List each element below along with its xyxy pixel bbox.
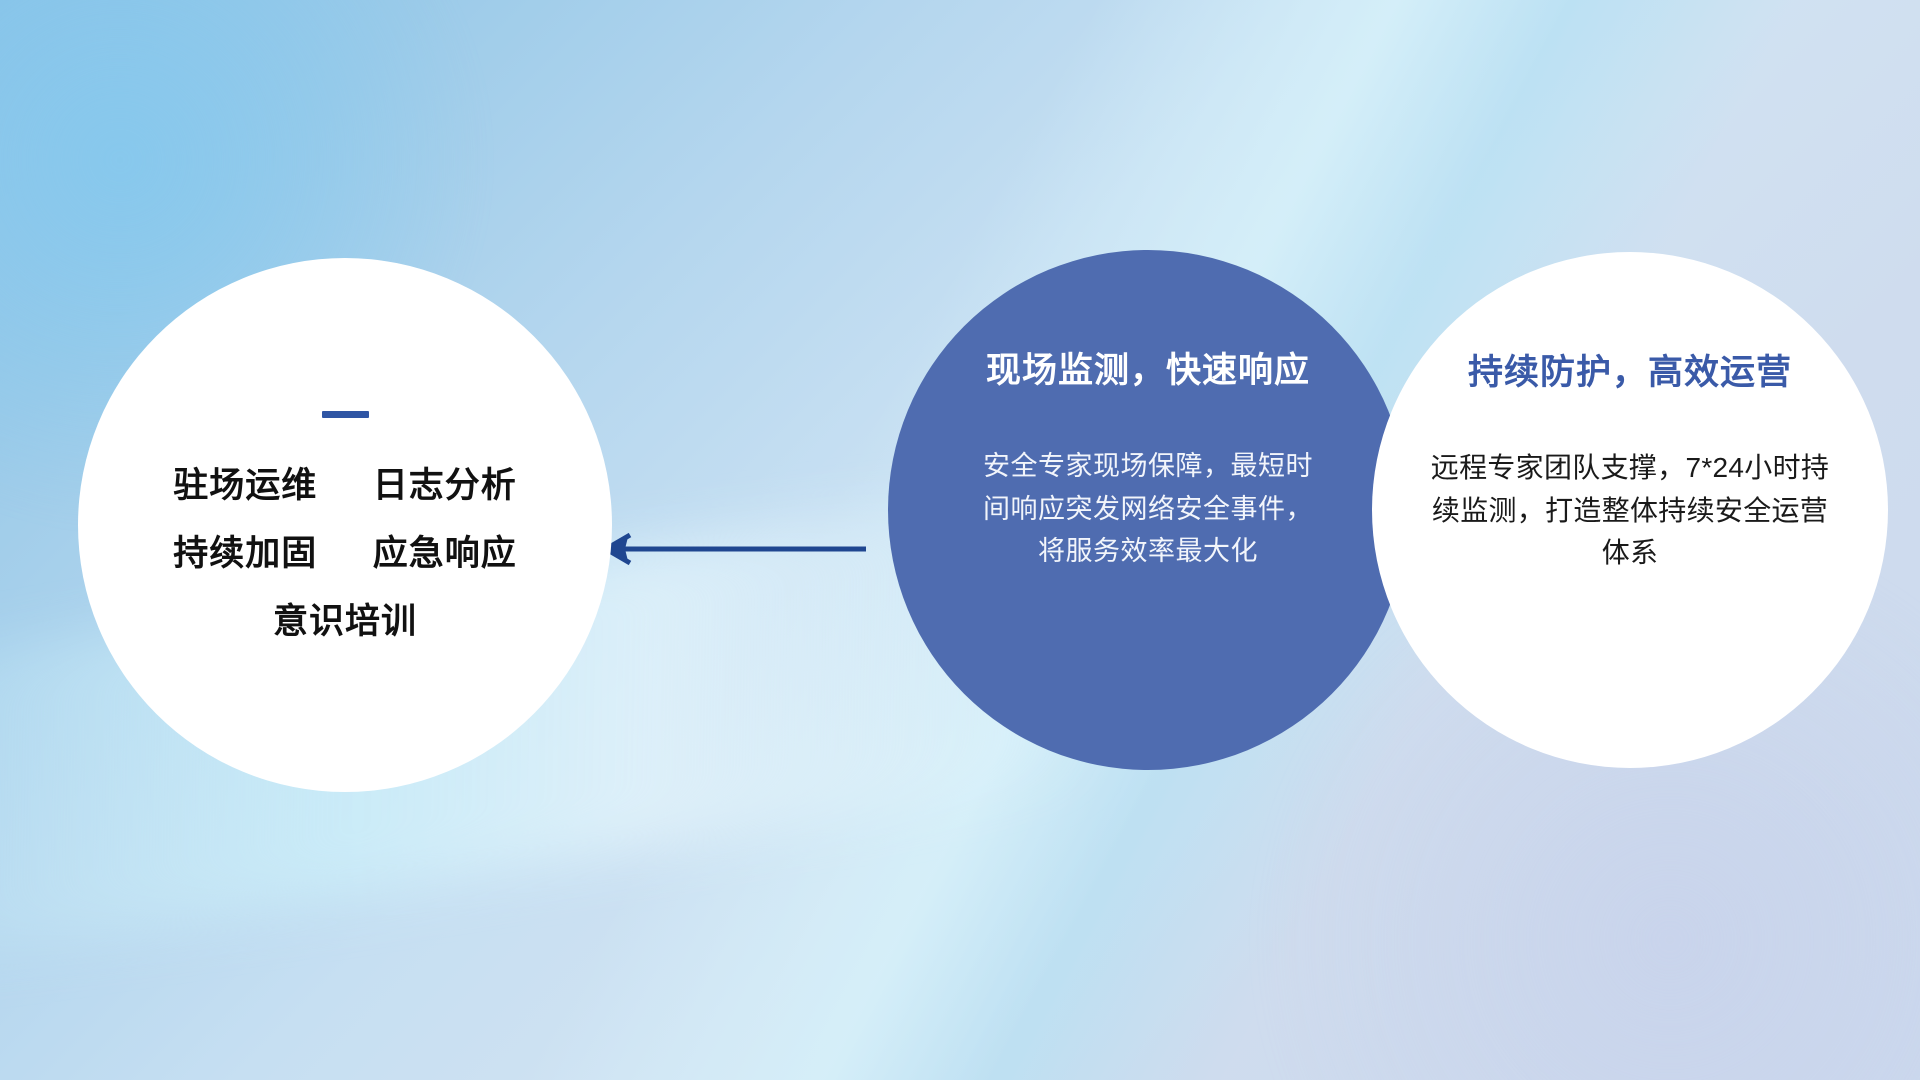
card-title-continuous-protection: 持续防护，高效运营	[1468, 344, 1792, 395]
service-item-label: 日志分析	[373, 466, 517, 505]
service-item-label: 意识培训	[273, 602, 417, 641]
card-circle-onsite-monitoring[interactable]: 现场监测，快速响应 安全专家现场保障，最短时间响应突发网络安全事件，将服务效率最…	[888, 250, 1408, 770]
slide-canvas: 现场监测，快速响应 安全专家现场保障，最短时间响应突发网络安全事件，将服务效率最…	[0, 0, 1920, 1080]
card-circle-service-items[interactable]: 驻场运维 日志分析 持续加固 应急响应 意识培训	[78, 258, 612, 792]
card-body-onsite-monitoring: 安全专家现场保障，最短时间响应突发网络安全事件，将服务效率最大化	[983, 445, 1313, 573]
service-item-label: 持续加固	[173, 534, 317, 573]
card-body-continuous-protection: 远程专家团队支撑，7*24小时持续监测，打造整体持续安全运营体系	[1420, 447, 1840, 575]
service-item-label: 应急响应	[373, 534, 517, 573]
card-circle-continuous-protection[interactable]: 持续防护，高效运营 远程专家团队支撑，7*24小时持续监测，打造整体持续安全运营…	[1372, 252, 1888, 768]
service-item-label: 驻场运维	[173, 466, 317, 505]
title-divider-dash	[322, 411, 369, 418]
flow-arrow-left-icon	[600, 516, 870, 582]
service-item-row: 意识培训	[273, 604, 417, 639]
service-item-row: 持续加固 应急响应	[173, 536, 517, 571]
card-title-onsite-monitoring: 现场监测，快速响应	[986, 342, 1310, 393]
service-item-row: 驻场运维 日志分析	[173, 468, 517, 503]
